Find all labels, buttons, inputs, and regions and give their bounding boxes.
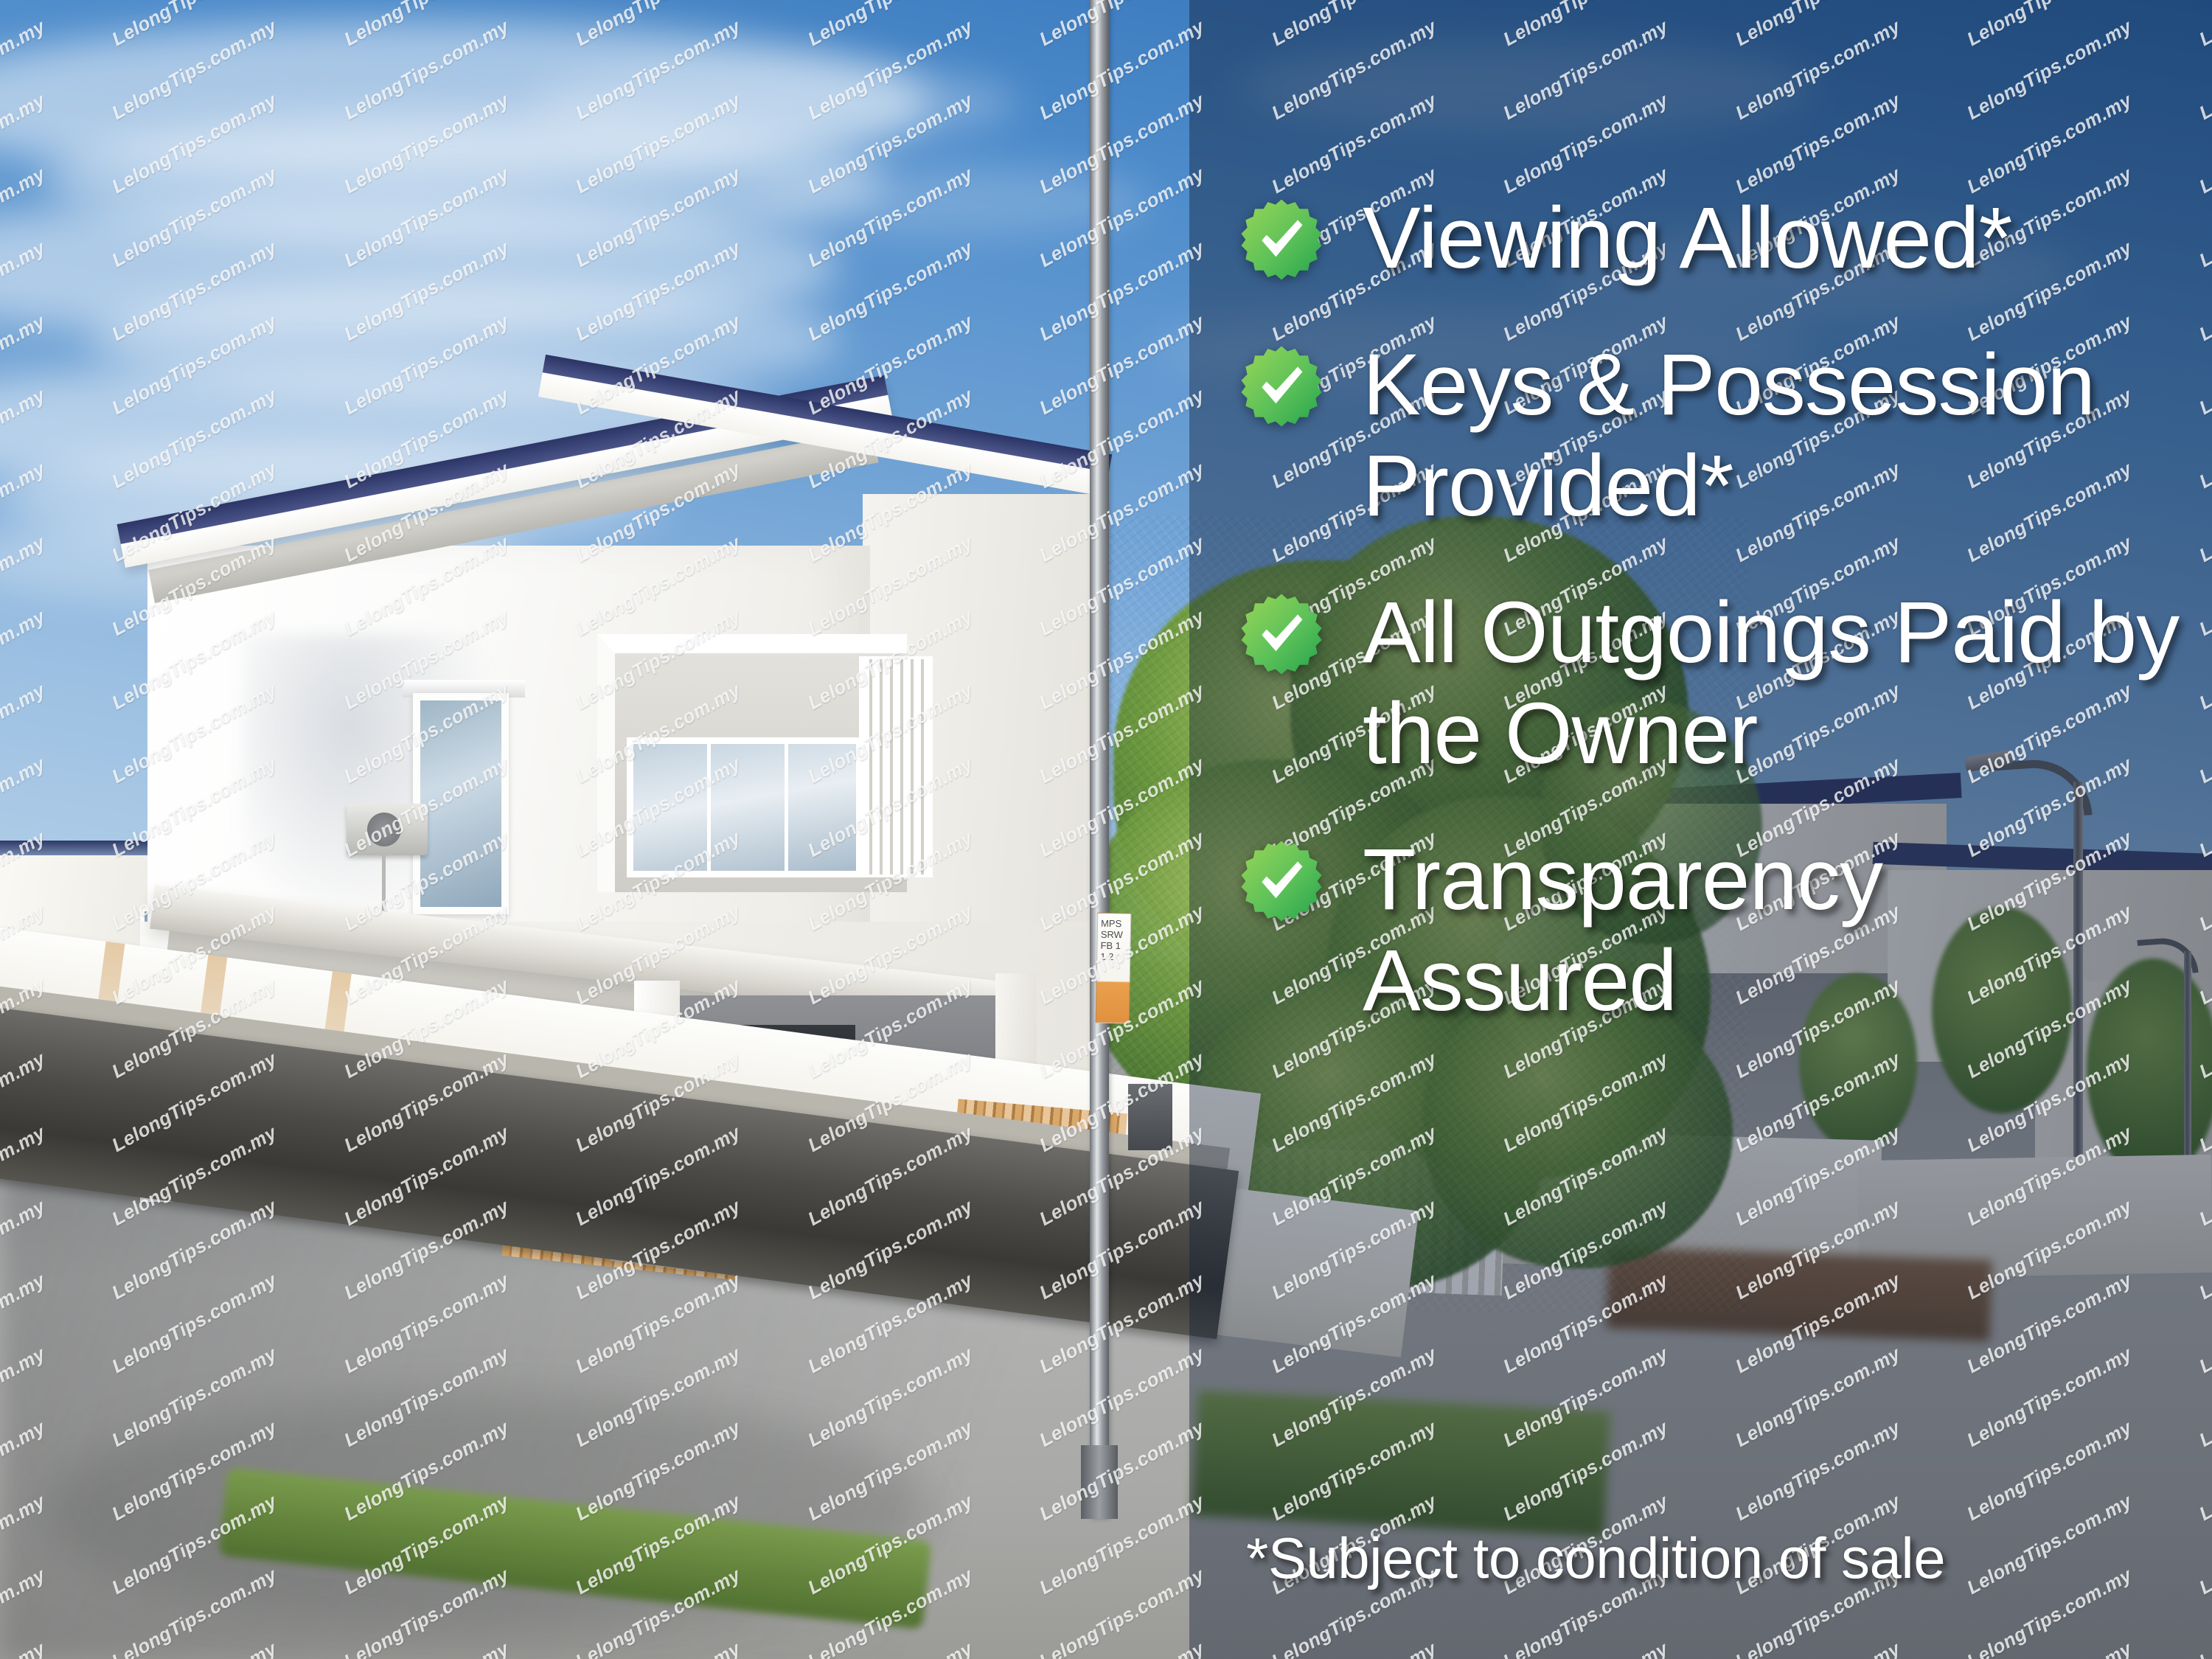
list-item: All Outgoings Paid by the Owner bbox=[1239, 582, 2212, 785]
listing-banner: MPS SRW FB 1 1 2 LelongTips.com.myLelong… bbox=[0, 0, 2212, 1659]
list-item: Transparency Assured bbox=[1239, 829, 2212, 1032]
balcony-slat-screen bbox=[859, 656, 933, 877]
verified-check-badge-icon bbox=[1239, 591, 1324, 677]
utility-pole bbox=[1090, 0, 1109, 1519]
feature-list: Viewing Allowed* Keys & Possession Provi… bbox=[1239, 188, 2212, 1077]
list-item-label: Viewing Allowed* bbox=[1363, 188, 2012, 289]
footnote-text: *Subject to condition of sale bbox=[1246, 1525, 2205, 1592]
list-item: Viewing Allowed* bbox=[1239, 188, 2212, 289]
verified-check-badge-icon bbox=[1239, 838, 1324, 924]
pole-sign-sticker: MPS SRW FB 1 1 2 bbox=[1096, 913, 1132, 1024]
upper-window bbox=[627, 737, 863, 877]
bay-window bbox=[413, 693, 509, 914]
list-item: Keys & Possession Provided* bbox=[1239, 335, 2212, 537]
list-item-label: Keys & Possession Provided* bbox=[1363, 335, 2212, 537]
verified-check-badge-icon bbox=[1239, 344, 1324, 429]
list-item-label: Transparency Assured bbox=[1363, 829, 2212, 1032]
air-conditioner-unit bbox=[347, 804, 428, 855]
list-item-label: All Outgoings Paid by the Owner bbox=[1363, 582, 2212, 785]
verified-check-badge-icon bbox=[1239, 197, 1324, 282]
